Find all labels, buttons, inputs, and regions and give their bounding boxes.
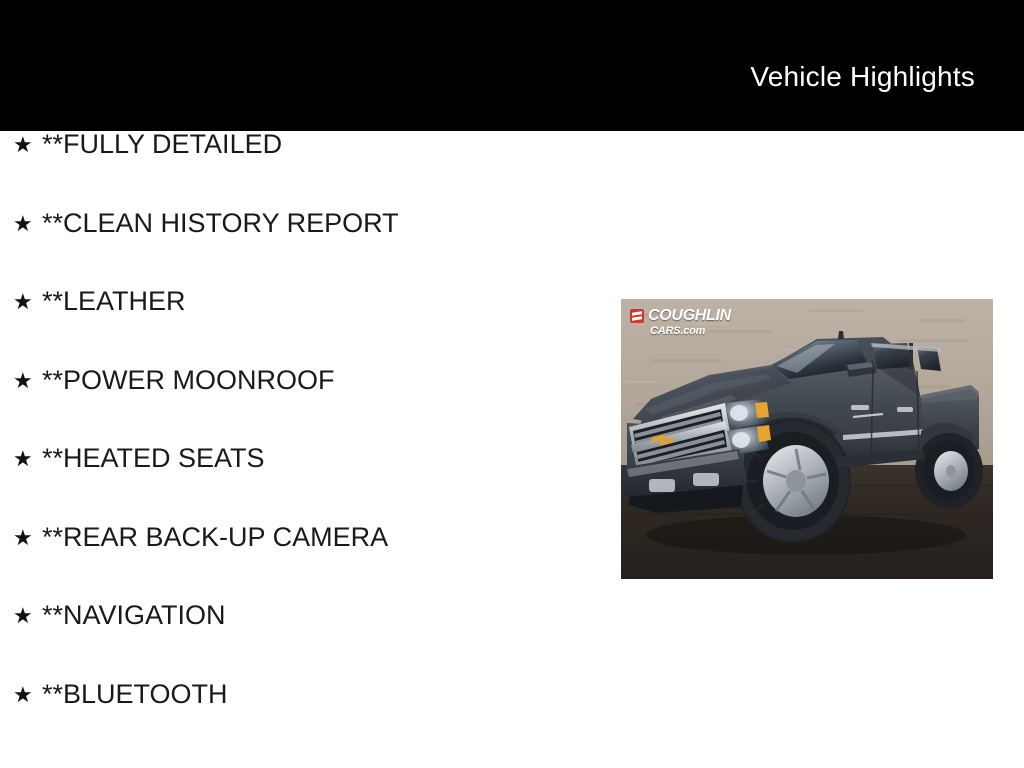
highlight-label: **POWER MOONROOF: [42, 367, 335, 394]
list-item: ★ **LEATHER: [0, 288, 600, 367]
star-icon: ★: [13, 291, 42, 313]
vehicle-photo-image: [621, 299, 993, 579]
highlight-label: **LEATHER: [42, 288, 186, 315]
highlight-label: **HEATED SEATS: [42, 445, 265, 472]
highlight-label: **FULLY DETAILED: [42, 131, 282, 158]
list-item: ★ **CLEAN HISTORY REPORT: [0, 210, 600, 289]
vehicle-photo[interactable]: COUGHLIN CARS.com: [621, 299, 993, 579]
vehicle-highlights-list: ★ **FULLY DETAILED ★ **CLEAN HISTORY REP…: [0, 131, 600, 759]
header-banner: Vehicle Highlights: [0, 0, 1024, 131]
star-icon: ★: [13, 213, 42, 235]
page-title: Vehicle Highlights: [750, 39, 1024, 93]
highlight-label: **REAR BACK-UP CAMERA: [42, 524, 388, 551]
star-icon: ★: [13, 134, 42, 156]
list-item: ★ **POWER MOONROOF: [0, 367, 600, 446]
star-icon: ★: [13, 605, 42, 627]
list-item: ★ **FULLY DETAILED: [0, 131, 600, 210]
list-item: ★ **NAVIGATION: [0, 602, 600, 681]
list-item: ★ **HEATED SEATS: [0, 445, 600, 524]
star-icon: ★: [13, 684, 42, 706]
list-item: ★ **REAR BACK-UP CAMERA: [0, 524, 600, 603]
vehicle-highlights-page: Vehicle Highlights ★ **FULLY DETAILED ★ …: [0, 0, 1024, 768]
highlight-label: **NAVIGATION: [42, 602, 226, 629]
star-icon: ★: [13, 448, 42, 470]
list-item: ★ **BLUETOOTH: [0, 681, 600, 760]
star-icon: ★: [13, 527, 42, 549]
star-icon: ★: [13, 370, 42, 392]
highlight-label: **CLEAN HISTORY REPORT: [42, 210, 399, 237]
highlight-label: **BLUETOOTH: [42, 681, 228, 708]
